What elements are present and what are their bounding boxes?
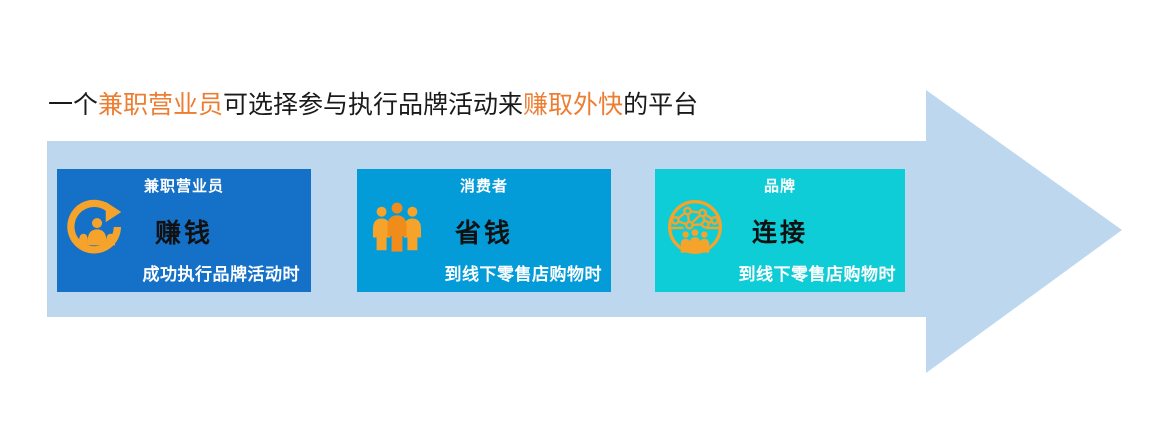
headline-segment-1-highlight: 兼职营业员 xyxy=(98,90,223,119)
card-main-consumer: 省钱 xyxy=(357,213,611,250)
card-brand[interactable]: 品牌 连接 到线下零售店购物时 xyxy=(655,169,905,292)
card-consumer[interactable]: 消费者 省钱 到线下零售店购物时 xyxy=(357,169,611,292)
headline-segment-0: 一个 xyxy=(48,90,98,119)
page-title: 一个兼职营业员可选择参与执行品牌活动来赚取外快的平台 xyxy=(48,88,698,122)
card-heading-brand: 品牌 xyxy=(655,175,905,196)
card-heading-consumer: 消费者 xyxy=(357,175,611,196)
card-footer-part-time-clerk: 成功执行品牌活动时 xyxy=(143,260,301,285)
card-part-time-clerk[interactable]: 兼职营业员 赚钱 成功执行品牌活动时 xyxy=(57,169,311,292)
card-footer-brand: 到线下零售店购物时 xyxy=(739,260,897,285)
headline-segment-2: 可选择参与执行品牌活动来 xyxy=(223,90,523,119)
card-footer-consumer: 到线下零售店购物时 xyxy=(445,260,603,285)
headline-segment-3-highlight: 赚取外快 xyxy=(523,90,623,119)
card-heading-part-time-clerk: 兼职营业员 xyxy=(57,175,311,196)
card-main-brand: 连接 xyxy=(655,213,905,249)
card-main-part-time-clerk: 赚钱 xyxy=(57,213,311,250)
headline-segment-4: 的平台 xyxy=(623,90,698,119)
slide-canvas: 一个兼职营业员可选择参与执行品牌活动来赚取外快的平台 兼职营业员 赚钱 成功执行… xyxy=(0,0,1150,430)
